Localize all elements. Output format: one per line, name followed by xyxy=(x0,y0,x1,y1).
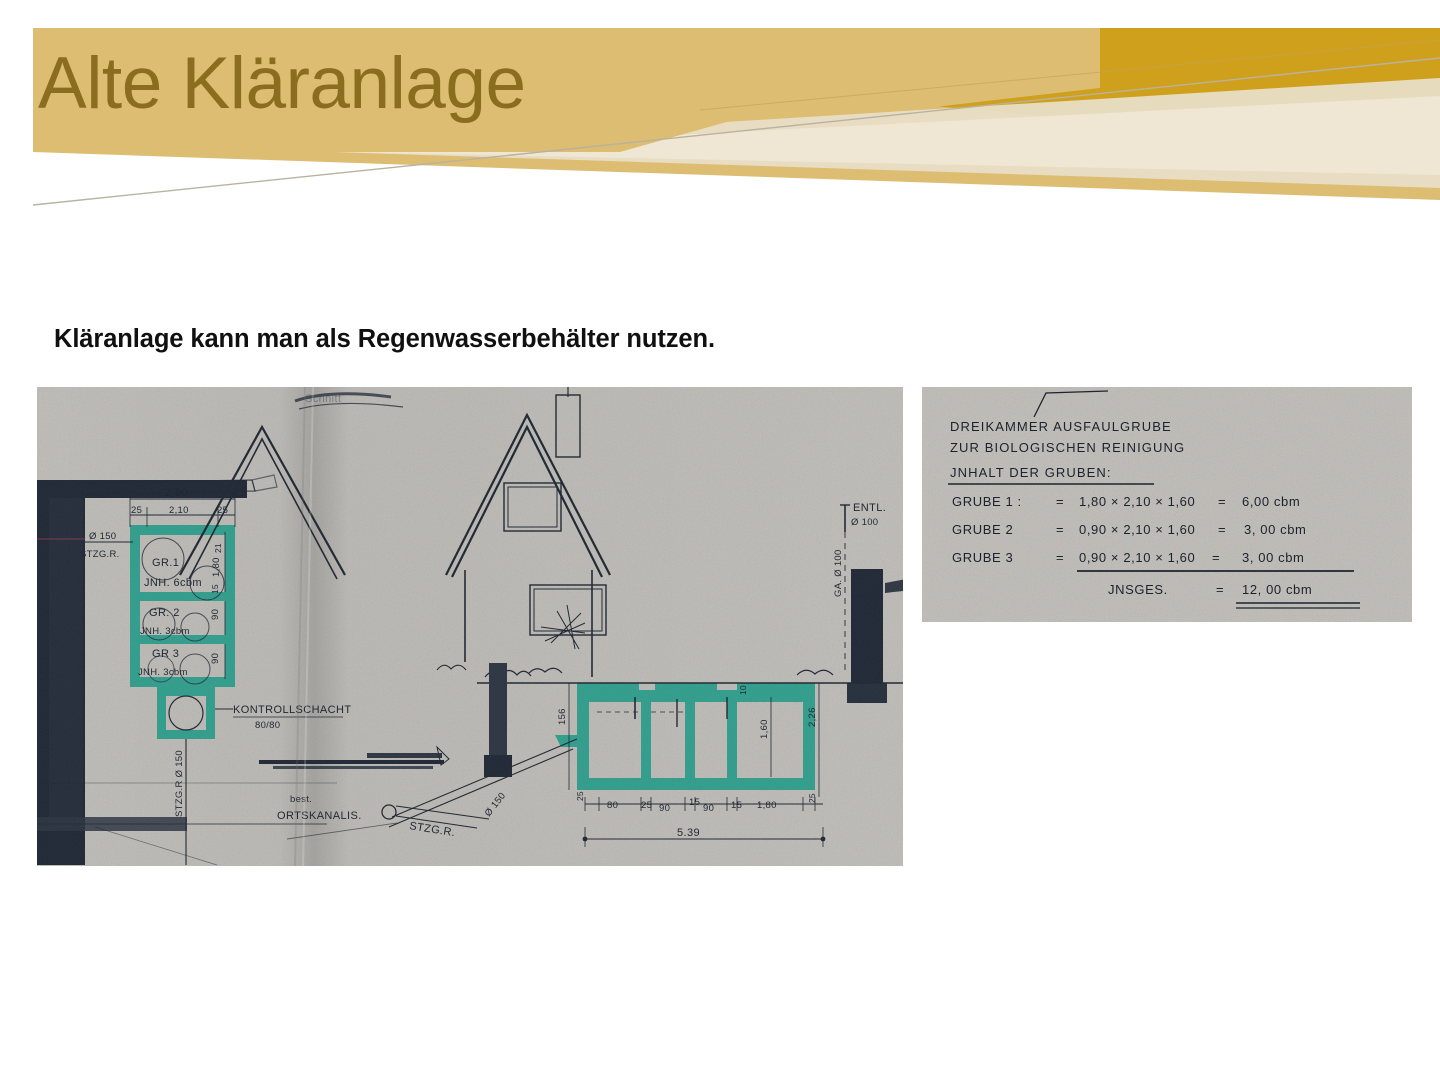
banner-hairline-2 xyxy=(700,40,1440,110)
plan-section-photo: .ink { stroke:#1b2430; fill:none; } .ink… xyxy=(37,387,903,866)
table-heading-line1: DREIKAMMER AUSFAULGRUBE xyxy=(950,419,1172,434)
total-eq: = xyxy=(1216,582,1224,597)
table-heading-line2: ZUR BIOLOGISCHEN REINIGUNG xyxy=(950,440,1185,455)
row3-formula: 0,90 × 2,10 × 1,60 xyxy=(1079,550,1195,565)
table-row: GRUBE 1 : = 1,80 × 2,10 × 1,60 = 6,00 cb… xyxy=(952,494,1300,509)
row1-formula: 1,80 × 2,10 × 1,60 xyxy=(1079,494,1195,509)
total-value: 12, 00 cbm xyxy=(1242,582,1312,597)
row2-name: GRUBE 2 xyxy=(952,522,1013,537)
table-caption: JNHALT DER GRUBEN: xyxy=(950,465,1112,480)
row1-name: GRUBE 1 : xyxy=(952,494,1022,509)
row3-eq1: = xyxy=(1056,550,1064,565)
row3-result: 3, 00 cbm xyxy=(1242,550,1305,565)
table-row: GRUBE 2 = 0,90 × 2,10 × 1,60 = 3, 00 cbm xyxy=(952,522,1307,537)
table-row: GRUBE 3 = 0,90 × 2,10 × 1,60 = 3, 00 cbm xyxy=(952,550,1305,565)
total-label: JNSGES. xyxy=(1108,582,1168,597)
slide-canvas: Alte Kläranlage Kläranlage kann man als … xyxy=(0,0,1440,1080)
row2-eq1: = xyxy=(1056,522,1064,537)
row1-eq1: = xyxy=(1056,494,1064,509)
row1-eq2: = xyxy=(1218,494,1226,509)
row2-result: 3, 00 cbm xyxy=(1244,522,1307,537)
row3-eq2: = xyxy=(1212,550,1220,565)
row2-eq2: = xyxy=(1218,522,1226,537)
row3-name: GRUBE 3 xyxy=(952,550,1013,565)
row1-result: 6,00 cbm xyxy=(1242,494,1300,509)
page-title: Alte Kläranlage xyxy=(38,46,526,123)
volume-table-photo: .tink { stroke:#1b2430; fill:none; } .tt… xyxy=(922,387,1412,622)
row2-formula: 0,90 × 2,10 × 1,60 xyxy=(1079,522,1195,537)
slide-body-text: Kläranlage kann man als Regenwasserbehäl… xyxy=(54,325,715,354)
